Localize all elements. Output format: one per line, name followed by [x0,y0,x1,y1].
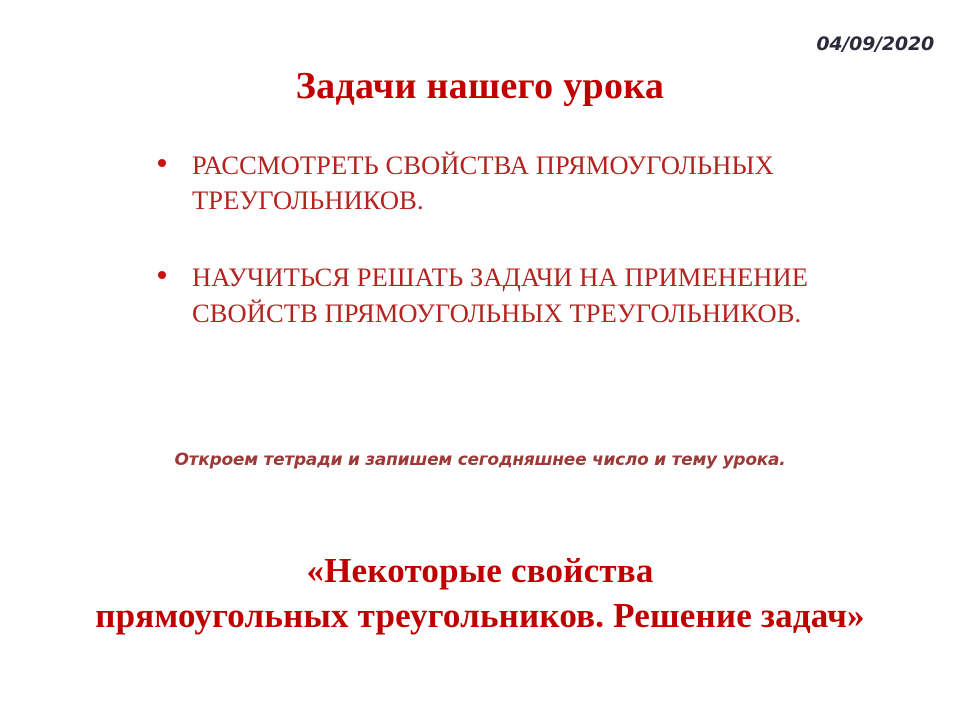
objective-text: РАССМОТРЕТЬ СВОЙСТВА ПРЯМОУГОЛЬНЫХ ТРЕУГ… [192,148,910,218]
topic-line-1: «Некоторые свойства [0,549,960,594]
instruction-note: Откроем тетради и запишем сегодняшнее чи… [0,450,960,470]
list-item: НАУЧИТЬСЯ РЕШАТЬ ЗАДАЧИ НА ПРИМЕНЕНИЕ СВ… [150,260,910,330]
slide-title: Задачи нашего урока [0,66,960,108]
objective-text: НАУЧИТЬСЯ РЕШАТЬ ЗАДАЧИ НА ПРИМЕНЕНИЕ СВ… [192,260,910,330]
topic-line-2: прямоугольных треугольников. Решение зад… [0,594,960,639]
lesson-topic-heading: «Некоторые свойства прямоугольных треуго… [0,549,960,639]
bullet-dot-icon [158,271,166,279]
objectives-list: РАССМОТРЕТЬ СВОЙСТВА ПРЯМОУГОЛЬНЫХ ТРЕУГ… [150,148,910,331]
list-item: РАССМОТРЕТЬ СВОЙСТВА ПРЯМОУГОЛЬНЫХ ТРЕУГ… [150,148,910,218]
presentation-slide: 04/09/2020 Задачи нашего урока РАССМОТРЕ… [0,0,960,720]
lesson-date: 04/09/2020 [816,33,934,55]
bullet-dot-icon [158,159,166,167]
